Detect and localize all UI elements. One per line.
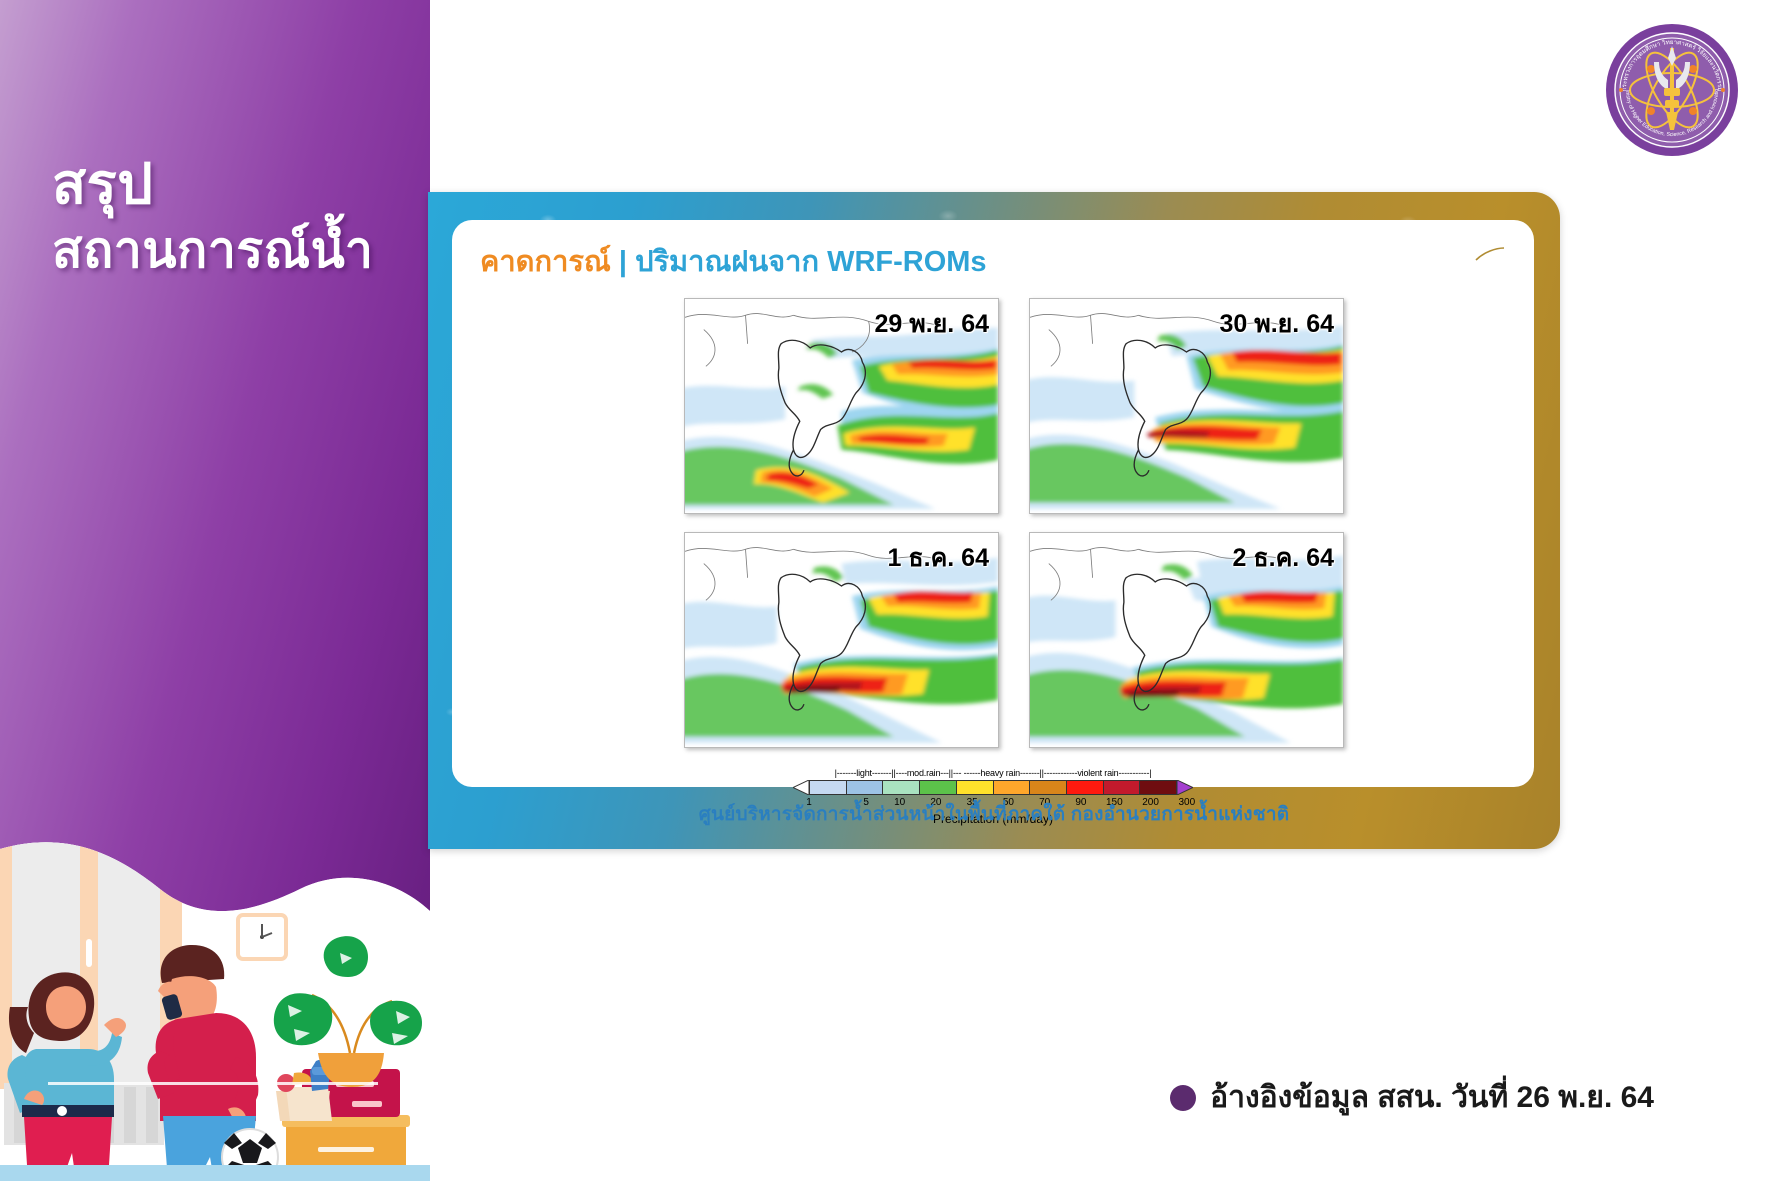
map-date-label: 1 ธ.ค. 64 xyxy=(888,538,989,578)
national-water-data-logo-icon: คลังข้อมูล น้ำ แห่งชาติ xyxy=(1342,232,1460,274)
colorbar-low-cap-icon xyxy=(793,780,809,795)
svg-text:แห่งชาติ: แห่งชาติ xyxy=(1408,257,1445,269)
colorbar-seg-1 xyxy=(809,780,847,795)
content-frame: คาดการณ์ | ปริมาณฝนจาก WRF-ROMs คลังข้อม… xyxy=(428,192,1560,849)
forecast-map-29-nov[interactable]: 29 พ.ย. 64 xyxy=(684,298,999,514)
map-date-label: 30 พ.ย. 64 xyxy=(1219,304,1334,344)
svg-text:สสน: สสน xyxy=(1480,262,1498,272)
page-title-line1: สรุป xyxy=(52,152,153,215)
page-title: สรุป สถานการณ์น้ำ xyxy=(52,152,422,279)
colorbar-seg-5 xyxy=(957,780,994,795)
illustration-svg xyxy=(0,761,430,1181)
reference-note: อ้างอิงข้อมูล สสน. วันที่ 26 พ.ย. 64 xyxy=(1170,1074,1654,1121)
section-title-blue: | ปริมาณฝนจาก WRF-ROMs xyxy=(619,246,987,278)
sidebar-divider xyxy=(48,1082,378,1085)
forecast-map-30-nov[interactable]: 30 พ.ย. 64 xyxy=(1029,298,1344,514)
hii-leaf-logo-icon: สสน xyxy=(1466,232,1512,274)
sidebar-illustration xyxy=(0,761,430,1181)
colorbar-seg-8 xyxy=(1067,780,1104,795)
frame-caption: ศูนย์บริหารจัดการน้ำส่วนหน้าในพื้นที่ภาค… xyxy=(428,799,1560,829)
colorbar-high-cap-icon xyxy=(1177,780,1193,795)
svg-text:คลังข้อมูล: คลังข้อมูล xyxy=(1388,238,1436,252)
colorbar-seg-6 xyxy=(994,780,1031,795)
colorbar-seg-10 xyxy=(1140,780,1177,795)
colorbar-category-row: |-------light-------||----mod.rain---||-… xyxy=(793,768,1193,779)
forecast-map-1-dec[interactable]: 1 ธ.ค. 64 xyxy=(684,532,999,748)
map-date-label: 29 พ.ย. 64 xyxy=(874,304,989,344)
map-date-label: 2 ธ.ค. 64 xyxy=(1233,538,1334,578)
colorbar-seg-2 xyxy=(847,780,884,795)
colorbar-seg-7 xyxy=(1030,780,1067,795)
ministry-seal-icon: กระทรวงการอุดมศึกษา วิทยาศาสตร์ วิจัยและ… xyxy=(1604,22,1740,158)
colorbar-gradient xyxy=(793,780,1193,795)
content-card: คาดการณ์ | ปริมาณฝนจาก WRF-ROMs คลังข้อม… xyxy=(452,220,1534,787)
brand-logos: คลังข้อมูล น้ำ แห่งชาติ สสน xyxy=(1342,232,1512,274)
colorbar-seg-4 xyxy=(920,780,957,795)
section-title: คาดการณ์ | ปริมาณฝนจาก WRF-ROMs xyxy=(480,238,987,284)
colorbar-seg-3 xyxy=(883,780,920,795)
colorbar-seg-9 xyxy=(1104,780,1141,795)
page-title-line2: สถานการณ์น้ำ xyxy=(52,221,422,279)
forecast-map-grid: 29 พ.ย. 64 xyxy=(684,298,1344,748)
sidebar: สรุป สถานการณ์น้ำ xyxy=(0,0,430,1181)
section-title-orange: คาดการณ์ xyxy=(480,246,611,278)
forecast-map-2-dec[interactable]: 2 ธ.ค. 64 xyxy=(1029,532,1344,748)
svg-text:น้ำ: น้ำ xyxy=(1386,248,1405,269)
reference-text: อ้างอิงข้อมูล สสน. วันที่ 26 พ.ย. 64 xyxy=(1210,1074,1654,1121)
bullet-dot-icon xyxy=(1170,1085,1196,1111)
slide-root: สรุป สถานการณ์น้ำ xyxy=(0,0,1772,1181)
